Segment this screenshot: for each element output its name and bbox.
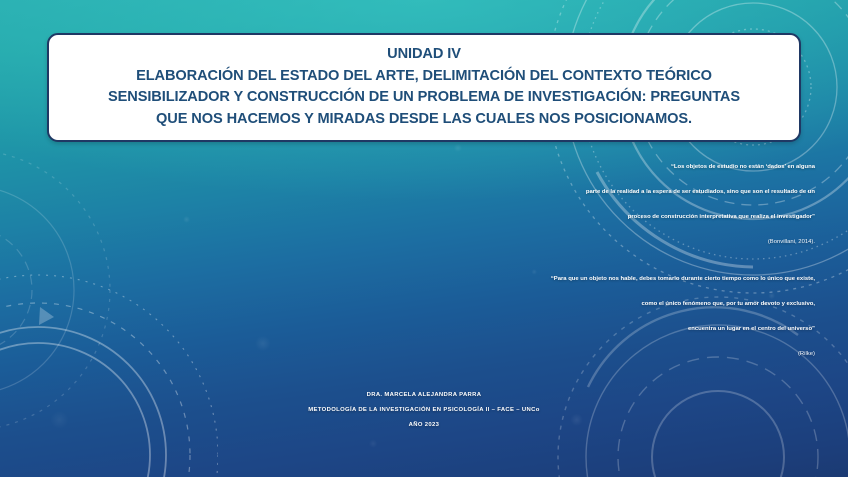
quote-line: “Los objetos de estudio no están ‘dados’… — [40, 155, 815, 180]
title-card: UNIDAD IV ELABORACIÓN DEL ESTADO DEL ART… — [47, 33, 801, 142]
footer-line-author: DRA. MARCELA ALEJANDRA PARRA — [0, 388, 848, 403]
title-line-2: ELABORACIÓN DEL ESTADO DEL ARTE, DELIMIT… — [63, 66, 785, 88]
footer-line-year: AÑO 2023 — [0, 418, 848, 433]
footer-line-course: METODOLOGÍA DE LA INVESTIGACIÓN EN PSICO… — [0, 403, 848, 418]
title-line-3: SENSIBILIZADOR Y CONSTRUCCIÓN DE UN PROB… — [63, 87, 785, 109]
quote-block-bonvillani: “Los objetos de estudio no están ‘dados’… — [40, 155, 815, 255]
title-line-4: QUE NOS HACEMOS Y MIRADAS DESDE LAS CUAL… — [63, 109, 785, 131]
quote-line: parte de la realidad a la espera de ser … — [40, 180, 815, 205]
quote-block-rilke: “Para que un objeto nos hable, debes tom… — [40, 267, 815, 367]
footer-credits: DRA. MARCELA ALEJANDRA PARRA METODOLOGÍA… — [0, 388, 848, 433]
quote-source-citation: (Bonvillani, 2014). — [40, 230, 815, 255]
quote-line: proceso de construcción interpretativa q… — [40, 205, 815, 230]
slide-canvas: UNIDAD IV ELABORACIÓN DEL ESTADO DEL ART… — [0, 0, 848, 477]
quote-line: como el único fenómeno que, por tu amor … — [40, 292, 815, 317]
title-line-unit: UNIDAD IV — [63, 44, 785, 66]
quote-line: encuentra un lugar en el centro del univ… — [40, 317, 815, 342]
quote-line: “Para que un objeto nos hable, debes tom… — [40, 267, 815, 292]
quote-source-citation: (Rilke) — [40, 342, 815, 367]
